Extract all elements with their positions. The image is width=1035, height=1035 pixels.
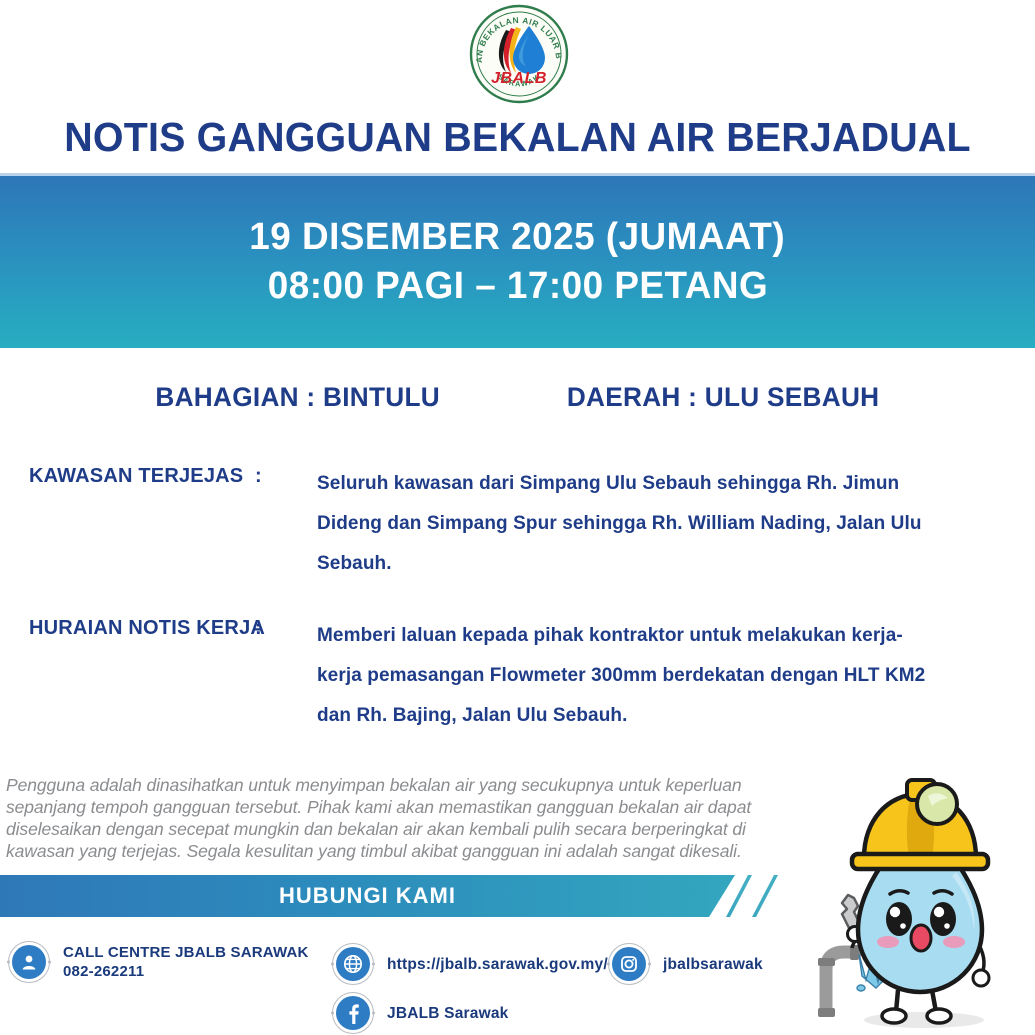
contact-facebook[interactable]: JBALB Sarawak <box>332 992 508 1034</box>
water-droplet-mascot <box>806 762 1035 1035</box>
division-row: BAHAGIAN : BINTULU DAERAH : ULU SEBAUH <box>0 382 1035 413</box>
contact-instagram[interactable]: jbalbsarawak <box>608 943 763 985</box>
call-centre-number: 082-262211 <box>63 962 309 981</box>
info-value-line: Memberi laluan kepada pihak kontraktor u… <box>317 616 927 656</box>
website-url: https://jbalb.sarawak.gov.my/ <box>387 955 608 974</box>
person-icon <box>8 941 50 983</box>
notice-date: 19 DISEMBER 2025 (JUMAAT) <box>250 216 786 259</box>
info-colon: : <box>255 464 317 488</box>
contact-banner-title: HUBUNGI KAMI <box>0 875 735 917</box>
daerah-label: DAERAH : ULU SEBAUH <box>567 382 880 413</box>
page-title: NOTIS GANGGUAN BEKALAN AIR BERJADUAL <box>21 114 1015 161</box>
pipe-icon <box>818 945 859 1017</box>
info-value: Seluruh kawasan dari Simpang Ulu Sebauh … <box>317 464 927 584</box>
info-value-line: Sebauh. <box>317 544 927 584</box>
contact-website[interactable]: https://jbalb.sarawak.gov.my/ <box>332 943 608 985</box>
facebook-icon <box>332 992 374 1034</box>
date-banner: 19 DISEMBER 2025 (JUMAAT) 08:00 PAGI – 1… <box>0 173 1035 348</box>
hard-hat-icon <box>852 780 988 869</box>
info-label: KAWASAN TERJEJAS <box>0 464 255 488</box>
info-block-huraian-notis-kerja: HURAIAN NOTIS KERJA : Memberi laluan kep… <box>0 616 1035 736</box>
disclaimer-text: Pengguna adalah dinasihatkan untuk menyi… <box>6 774 786 862</box>
svg-text:JBALB: JBALB <box>491 70 547 87</box>
jbalb-logo: JABATAN BEKALAN AIR LUAR BANDAR SARAWAK … <box>466 2 572 106</box>
contact-phone[interactable]: CALL CENTRE JBALB SARAWAK 082-262211 <box>8 941 309 983</box>
instagram-handle: jbalbsarawak <box>663 955 763 974</box>
contact-phone-text: CALL CENTRE JBALB SARAWAK 082-262211 <box>63 943 309 981</box>
info-block-kawasan-terjejas: KAWASAN TERJEJAS : Seluruh kawasan dari … <box>0 464 1035 584</box>
info-value-line: dan Rh. Bajing, Jalan Ulu Sebauh. <box>317 696 927 736</box>
instagram-icon <box>608 943 650 985</box>
facebook-handle: JBALB Sarawak <box>387 1004 508 1023</box>
info-value-line: Seluruh kawasan dari Simpang Ulu Sebauh … <box>317 464 927 504</box>
info-value-line: Dideng dan Simpang Spur sehingga Rh. Wil… <box>317 504 927 544</box>
info-colon: : <box>255 616 317 640</box>
call-centre-label: CALL CENTRE JBALB SARAWAK <box>63 944 309 961</box>
info-label: HURAIAN NOTIS KERJA <box>0 616 255 640</box>
notice-time: 08:00 PAGI – 17:00 PETANG <box>267 265 767 308</box>
info-value: Memberi laluan kepada pihak kontraktor u… <box>317 616 927 736</box>
globe-icon <box>332 943 374 985</box>
notice-poster: JABATAN BEKALAN AIR LUAR BANDAR SARAWAK … <box>0 0 1035 1035</box>
info-value-line: kerja pemasangan Flowmeter 300mm berdeka… <box>317 656 927 696</box>
bahagian-label: BAHAGIAN : BINTULU <box>155 382 440 413</box>
banner-slash-icon <box>752 875 782 917</box>
